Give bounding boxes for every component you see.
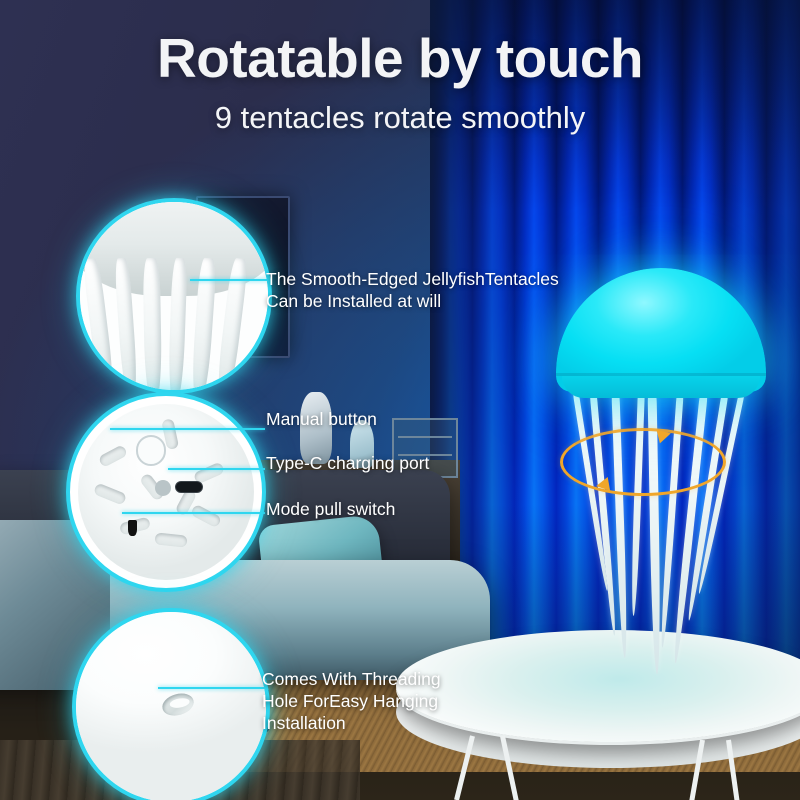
base-center-hub bbox=[155, 480, 171, 496]
leader-line-manual-button bbox=[110, 428, 265, 430]
rotation-arrow-left-icon bbox=[595, 477, 610, 493]
lamp-dome bbox=[556, 268, 766, 392]
base-plate bbox=[78, 404, 255, 581]
round-table-top bbox=[396, 630, 800, 742]
mode-pull-switch-icon[interactable] bbox=[128, 520, 137, 536]
type-c-port-icon[interactable] bbox=[175, 481, 203, 493]
tentacle-mount-slot bbox=[190, 503, 222, 528]
tentacle-mount-slot bbox=[92, 483, 126, 506]
callout-circle-tentacles-closeup bbox=[76, 198, 272, 394]
leader-line-type-c bbox=[168, 468, 265, 470]
callout-label-mode-pull-switch: Mode pull switch bbox=[266, 498, 395, 520]
closeup-tentacle bbox=[143, 258, 162, 394]
lamp-dome-base bbox=[562, 376, 760, 398]
page-title: Rotatable by touch bbox=[0, 26, 800, 90]
callout-circle-base-underside bbox=[66, 392, 266, 592]
jellyfish-lamp bbox=[556, 268, 766, 408]
leader-line-mode-switch bbox=[122, 512, 265, 514]
callout-label-manual-button: Manual button bbox=[266, 408, 377, 430]
callout-circle-dome-top-hole bbox=[72, 608, 270, 800]
leader-line-tentacles bbox=[190, 279, 268, 281]
callout-label-tentacles: The Smooth-Edged JellyfishTentacles Can … bbox=[266, 268, 559, 312]
callout-label-type-c-port: Type-C charging port bbox=[266, 452, 429, 474]
page-subtitle: 9 tentacles rotate smoothly bbox=[0, 100, 800, 136]
leader-line-threading-hole bbox=[158, 687, 265, 689]
manual-button-icon[interactable] bbox=[136, 435, 166, 465]
product-marketing-image: Rotatable by touch 9 tentacles rotate sm… bbox=[0, 0, 800, 800]
callout-label-threading-hole: Comes With Threading Hole ForEasy Hangin… bbox=[262, 668, 441, 734]
tentacle-mount-slot bbox=[155, 533, 188, 549]
rotation-indicator-ellipse bbox=[560, 428, 726, 496]
tentacle-mount-slot bbox=[98, 444, 129, 468]
